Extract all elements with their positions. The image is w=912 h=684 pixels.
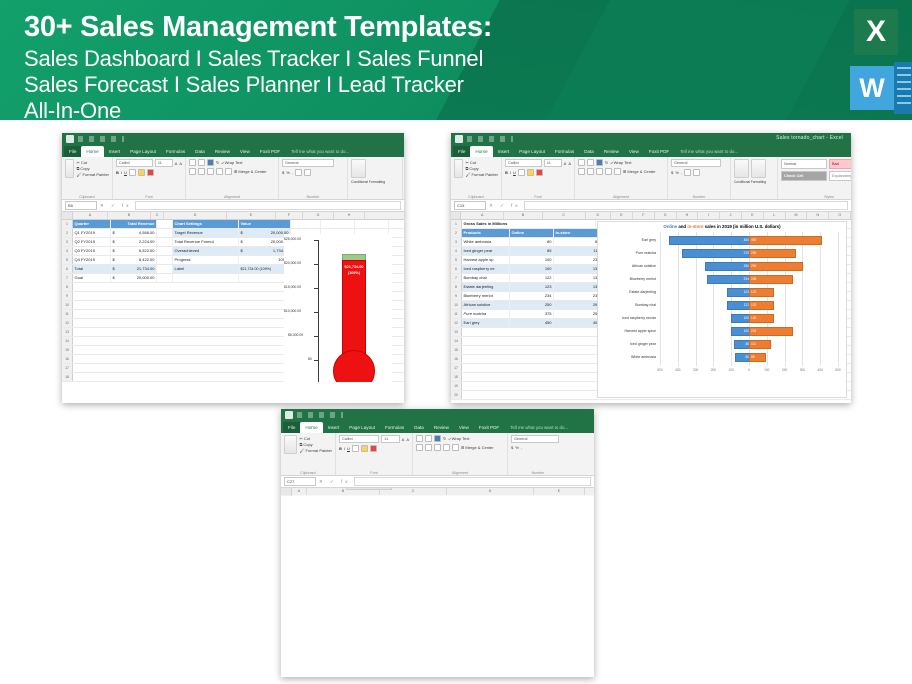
- row-header[interactable]: 6: [62, 265, 73, 273]
- tab-data[interactable]: Data: [579, 146, 599, 157]
- quick-access-toolbar[interactable]: [297, 412, 343, 418]
- col-header-g[interactable]: G: [655, 212, 677, 219]
- row-header[interactable]: 2: [451, 229, 462, 237]
- decrease-font-icon[interactable]: A: [568, 161, 571, 166]
- col-header-d[interactable]: D: [447, 488, 534, 495]
- row-header[interactable]: 19: [451, 382, 462, 390]
- tab-page-layout[interactable]: Page Layout: [125, 146, 161, 157]
- merge-center-button[interactable]: ⊞ Merge & Center: [623, 169, 656, 174]
- bar-instore[interactable]: 290: [749, 262, 803, 271]
- col-header-a[interactable]: A: [73, 212, 108, 219]
- tell-me-box[interactable]: Tell me what you want to do...: [510, 425, 568, 430]
- style-explanatory[interactable]: Explanatory: [829, 171, 851, 181]
- fill-color-icon[interactable]: [138, 169, 145, 176]
- currency-icon[interactable]: $: [282, 170, 284, 175]
- increase-font-icon[interactable]: A: [402, 437, 405, 442]
- formula-bar-row[interactable]: B5 ✕ ✓ fx: [62, 200, 404, 212]
- ribbon-group-number[interactable]: General $% , Number: [508, 433, 568, 475]
- cell-d3[interactable]: Total Revenue Formul: [173, 238, 239, 246]
- cell-b6-total[interactable]: $21,734.00: [111, 265, 157, 273]
- tab-data[interactable]: Data: [190, 146, 210, 157]
- ribbon-group-font[interactable]: Calibri 11 AA B I U Font: [336, 433, 413, 475]
- decrease-decimal-icon[interactable]: [693, 169, 700, 176]
- col-header-h[interactable]: H: [677, 212, 699, 219]
- bold-button[interactable]: B: [339, 446, 342, 451]
- merge-center-button[interactable]: ⊞ Merge & Center: [234, 169, 267, 174]
- bar-online[interactable]: 123: [727, 288, 751, 297]
- bar-instore[interactable]: 234: [749, 327, 793, 336]
- tell-me-box[interactable]: Tell me what you want to do...: [291, 149, 349, 154]
- wrap-text-button[interactable]: ⤶ Wrap Text: [448, 436, 469, 441]
- formula-bar-row[interactable]: C15 ✕ ✓ fx: [451, 200, 851, 212]
- tab-home[interactable]: Home: [81, 146, 103, 157]
- font-color-icon[interactable]: [536, 169, 543, 176]
- number-format-select[interactable]: General: [282, 159, 334, 167]
- product-name[interactable]: White ambrosia: [462, 238, 510, 246]
- style-bad[interactable]: Bad: [829, 159, 851, 169]
- tab-file[interactable]: File: [283, 422, 300, 433]
- cell-e1-value[interactable]: Value: [239, 220, 291, 228]
- tab-formulas[interactable]: Formulas: [550, 146, 579, 157]
- row-header[interactable]: 11: [62, 310, 73, 318]
- increase-indent-icon[interactable]: [614, 168, 621, 175]
- bar-instore[interactable]: 132: [749, 288, 774, 297]
- cell-b5[interactable]: $8,422.00: [111, 256, 157, 264]
- ribbon-tabs[interactable]: File Home Insert Page Layout Formulas Da…: [62, 146, 404, 157]
- font-size-select[interactable]: 11: [155, 159, 173, 167]
- comma-style-icon[interactable]: ,: [292, 170, 293, 175]
- cell-d4[interactable]: Overachieved: [173, 247, 239, 255]
- format-as-table-button[interactable]: [751, 159, 766, 178]
- align-middle-icon[interactable]: [587, 159, 594, 166]
- cell-b1-total-revenue[interactable]: Total Revenue: [111, 220, 157, 228]
- bar-online[interactable]: 375: [682, 249, 751, 258]
- tab-review[interactable]: Review: [210, 146, 235, 157]
- percent-style-button[interactable]: %: [515, 445, 519, 450]
- align-left-icon[interactable]: [578, 168, 585, 175]
- row-header[interactable]: 10: [62, 301, 73, 309]
- cell-a2[interactable]: Q1 FY2019: [73, 229, 111, 237]
- tab-file[interactable]: File: [453, 146, 470, 157]
- align-middle-icon[interactable]: [198, 159, 205, 166]
- bar-instore[interactable]: 85: [749, 353, 766, 362]
- col-header-e[interactable]: E: [534, 488, 585, 495]
- quick-access-toolbar[interactable]: [467, 136, 513, 142]
- number-format-select[interactable]: General: [671, 159, 721, 167]
- style-check-cell[interactable]: Check Cell: [781, 171, 827, 181]
- cell-a6-total[interactable]: Total: [73, 265, 111, 273]
- formula-bar-icons[interactable]: ✕ ✓ fx: [489, 203, 521, 209]
- tab-page-layout[interactable]: Page Layout: [514, 146, 550, 157]
- row-header[interactable]: 3: [62, 238, 73, 246]
- instore-value[interactable]: 235: [554, 292, 602, 300]
- row-headers[interactable]: 12 34 56 78 910 1112 1314 1516 17: [281, 495, 292, 496]
- paste-button[interactable]: [454, 159, 463, 178]
- align-center-icon[interactable]: [587, 168, 594, 175]
- ribbon[interactable]: ✂ Cut ⧉ Copy 🖌 Format Painter Clipboard …: [451, 157, 851, 200]
- name-box[interactable]: C27: [284, 477, 316, 486]
- col-header-o[interactable]: O: [829, 212, 851, 219]
- align-center-icon[interactable]: [425, 444, 432, 451]
- italic-button[interactable]: I: [344, 446, 345, 451]
- tab-foxit-pdf[interactable]: Foxit PDF: [474, 422, 504, 433]
- screenshot-sales-funnel[interactable]: File Home Insert Page Layout Formulas Da…: [281, 409, 594, 677]
- ribbon-tabs[interactable]: File Home Insert Page Layout Formulas Da…: [281, 422, 594, 433]
- borders-icon[interactable]: [352, 445, 359, 452]
- product-name[interactable]: Pure matcha: [462, 310, 510, 318]
- online-value[interactable]: 85: [510, 247, 554, 255]
- cell-products-header[interactable]: Products: [462, 229, 510, 237]
- cell-a5[interactable]: Q4 FY2019: [73, 256, 111, 264]
- bar-online[interactable]: 234: [707, 275, 751, 284]
- ribbon-group-conditional[interactable]: Conditional Formatting: [731, 157, 778, 199]
- instore-value[interactable]: 132: [554, 283, 602, 291]
- ribbon[interactable]: ✂ Cut ⧉ Copy 🖌 Format Painter Clipboard …: [281, 433, 594, 476]
- conditional-formatting-button[interactable]: [351, 159, 366, 178]
- cell-d5[interactable]: Progress: [173, 256, 239, 264]
- increase-font-icon[interactable]: A: [175, 161, 178, 166]
- ribbon-group-alignment[interactable]: ↻ ⤶ Wrap Text ⊞ Merge & Center Alignment: [413, 433, 508, 475]
- tab-data[interactable]: Data: [409, 422, 429, 433]
- worksheet-grid[interactable]: A B C D E 12 34 56 78 910 1112 1314 1516…: [281, 488, 594, 496]
- cell-a7-goal[interactable]: Goal: [73, 274, 111, 282]
- decrease-indent-icon[interactable]: [216, 168, 223, 175]
- row-header[interactable]: 20: [451, 391, 462, 399]
- ribbon-group-font[interactable]: Calibri 11 AA B I U Font: [113, 157, 186, 199]
- cell-c5[interactable]: [157, 256, 173, 264]
- col-header-g[interactable]: G: [303, 212, 334, 219]
- percent-style-button[interactable]: %: [286, 170, 290, 175]
- align-center-icon[interactable]: [198, 168, 205, 175]
- online-value[interactable]: 234: [510, 292, 554, 300]
- col-header-h[interactable]: H: [334, 212, 365, 219]
- screenshot-thermometer-dashboard[interactable]: File Home Insert Page Layout Formulas Da…: [62, 133, 404, 403]
- row-header[interactable]: 1: [62, 220, 73, 228]
- ribbon[interactable]: ✂ Cut ⧉ Copy 🖌 Format Painter Clipboard …: [62, 157, 404, 200]
- cut-button[interactable]: ✂ Cut: [299, 436, 332, 441]
- align-right-icon[interactable]: [207, 168, 214, 175]
- cell-c7[interactable]: [157, 274, 173, 282]
- align-left-icon[interactable]: [189, 168, 196, 175]
- online-value[interactable]: 450: [510, 319, 554, 327]
- ok-button[interactable]: OK: [346, 488, 392, 490]
- col-header-e[interactable]: E: [611, 212, 633, 219]
- tab-formulas[interactable]: Formulas: [161, 146, 190, 157]
- formula-bar-row[interactable]: C27 ✕ ✓ fx: [281, 476, 594, 488]
- corner-select-all[interactable]: [62, 212, 73, 219]
- font-size-select[interactable]: 11: [544, 159, 562, 167]
- tab-page-layout[interactable]: Page Layout: [344, 422, 380, 433]
- online-value[interactable]: 100: [510, 256, 554, 264]
- fill-color-icon[interactable]: [527, 169, 534, 176]
- bar-online[interactable]: 250: [705, 262, 752, 271]
- underline-button[interactable]: U: [124, 170, 127, 175]
- save-icon[interactable]: [455, 135, 463, 143]
- col-header-b[interactable]: B: [504, 212, 543, 219]
- corner-select-all[interactable]: [451, 212, 461, 219]
- decrease-decimal-icon[interactable]: [304, 169, 311, 176]
- cell-g1[interactable]: [321, 220, 355, 228]
- bar-online[interactable]: 100: [731, 327, 751, 336]
- col-header-d[interactable]: D: [164, 212, 227, 219]
- ribbon-group-styles[interactable]: Conditional Formatting: [348, 157, 403, 199]
- orientation-icon[interactable]: ↻: [216, 160, 219, 165]
- instore-value[interactable]: 290: [554, 301, 602, 309]
- formula-input[interactable]: [524, 201, 848, 210]
- tornado-chart[interactable]: Online and in-store sales in 2019 (in mi…: [597, 221, 847, 398]
- row-header[interactable]: 13: [62, 328, 73, 336]
- tab-foxit-pdf[interactable]: Foxit PDF: [644, 146, 674, 157]
- decrease-indent-icon[interactable]: [443, 444, 450, 451]
- name-box[interactable]: C15: [454, 201, 486, 210]
- col-header-b[interactable]: B: [108, 212, 151, 219]
- cell-c3[interactable]: [157, 238, 173, 246]
- row-header[interactable]: 3: [451, 238, 462, 246]
- row-header[interactable]: 16: [451, 355, 462, 363]
- row-header[interactable]: 17: [451, 364, 462, 372]
- wrap-text-button[interactable]: ⤶ Wrap Text: [221, 160, 242, 165]
- tab-view[interactable]: View: [624, 146, 644, 157]
- recreate-charts-bar[interactable]: Click here to recreate the charts OK: [289, 488, 392, 490]
- bar-instore[interactable]: 111: [749, 340, 771, 349]
- row-header[interactable]: 12: [451, 319, 462, 327]
- underline-button[interactable]: U: [513, 170, 516, 175]
- tab-insert[interactable]: Insert: [493, 146, 515, 157]
- instore-value[interactable]: 250: [554, 310, 602, 318]
- product-name[interactable]: Harvest apple sp: [462, 256, 510, 264]
- row-header[interactable]: 15: [451, 346, 462, 354]
- copy-button[interactable]: ⧉ Copy: [299, 442, 332, 447]
- row-header[interactable]: 18: [451, 373, 462, 381]
- comma-style-icon[interactable]: ,: [681, 170, 682, 175]
- font-name-select[interactable]: Calibri: [339, 435, 379, 443]
- fill-color-icon[interactable]: [361, 445, 368, 452]
- cut-button[interactable]: ✂ Cut: [76, 160, 109, 165]
- borders-icon[interactable]: [129, 169, 136, 176]
- ribbon-group-font[interactable]: Calibri 11 AA B I U Font: [502, 157, 575, 199]
- online-value[interactable]: 80: [510, 238, 554, 246]
- col-header-m[interactable]: M: [786, 212, 808, 219]
- col-header-f[interactable]: F: [276, 212, 303, 219]
- row-header[interactable]: 8: [451, 283, 462, 291]
- instore-value[interactable]: 85: [554, 238, 602, 246]
- row-header[interactable]: 5: [62, 256, 73, 264]
- cell-b2[interactable]: $4,566.00: [111, 229, 157, 237]
- col-header-c[interactable]: C: [151, 212, 164, 219]
- worksheet-grid[interactable]: A B C D E F G H I J K L M N O 1 Gross Sa…: [451, 212, 851, 400]
- decrease-indent-icon[interactable]: [605, 168, 612, 175]
- merge-center-button[interactable]: ⊞ Merge & Center: [461, 445, 494, 450]
- row-header[interactable]: 7: [451, 274, 462, 282]
- row-header[interactable]: 6: [451, 265, 462, 273]
- bar-instore[interactable]: 235: [749, 275, 793, 284]
- align-right-icon[interactable]: [434, 444, 441, 451]
- style-normal[interactable]: Normal: [781, 159, 827, 169]
- cell-c1[interactable]: [157, 220, 173, 228]
- paste-button[interactable]: [65, 159, 74, 178]
- product-name[interactable]: Bombay chai: [462, 274, 510, 282]
- ribbon-group-clipboard[interactable]: ✂ Cut ⧉ Copy 🖌 Format Painter Clipboard: [62, 157, 113, 199]
- font-color-icon[interactable]: [370, 445, 377, 452]
- row-header[interactable]: 4: [62, 247, 73, 255]
- row-header[interactable]: 1: [451, 220, 462, 228]
- instore-value[interactable]: 132: [554, 274, 602, 282]
- row-header[interactable]: 8: [62, 283, 73, 291]
- bar-online[interactable]: 100: [731, 314, 751, 323]
- product-name[interactable]: Iced ginger pear: [462, 247, 510, 255]
- col-header-j[interactable]: J: [720, 212, 742, 219]
- row-header[interactable]: 16: [62, 355, 73, 363]
- bar-instore[interactable]: 250: [749, 249, 796, 258]
- increase-decimal-icon[interactable]: [295, 169, 302, 176]
- tab-home[interactable]: Home: [470, 146, 492, 157]
- col-header-k[interactable]: K: [742, 212, 764, 219]
- cell-c4[interactable]: [157, 247, 173, 255]
- col-header-i[interactable]: I: [698, 212, 720, 219]
- align-bottom-icon[interactable]: [596, 159, 603, 166]
- cell-d6-label[interactable]: Label: [173, 265, 239, 273]
- formula-input[interactable]: [354, 477, 591, 486]
- tab-review[interactable]: Review: [599, 146, 624, 157]
- underline-button[interactable]: U: [347, 446, 350, 451]
- ribbon-group-clipboard[interactable]: ✂ Cut ⧉ Copy 🖌 Format Painter Clipboard: [281, 433, 336, 475]
- bold-button[interactable]: B: [116, 170, 119, 175]
- align-left-icon[interactable]: [416, 444, 423, 451]
- name-box[interactable]: B5: [65, 201, 97, 210]
- ribbon-group-styles[interactable]: Normal Bad Check Cell Explanatory Styles: [778, 157, 851, 199]
- align-top-icon[interactable]: [416, 435, 423, 442]
- ribbon-group-number[interactable]: General $% , Number: [668, 157, 731, 199]
- formula-input[interactable]: [135, 201, 401, 210]
- row-header[interactable]: 5: [451, 256, 462, 264]
- align-middle-icon[interactable]: [425, 435, 432, 442]
- worksheet-grid[interactable]: A B C D E F G H 1 Quarter Total Revenue …: [62, 212, 404, 382]
- cut-button[interactable]: ✂ Cut: [465, 160, 498, 165]
- percent-style-button[interactable]: %: [675, 170, 679, 175]
- ribbon-group-clipboard[interactable]: ✂ Cut ⧉ Copy 🖌 Format Painter Clipboard: [451, 157, 502, 199]
- bar-instore[interactable]: 132: [749, 301, 774, 310]
- product-name[interactable]: Iced raspberry ne: [462, 265, 510, 273]
- tab-review[interactable]: Review: [429, 422, 454, 433]
- align-bottom-icon[interactable]: [434, 435, 441, 442]
- format-painter-button[interactable]: 🖌 Format Painter: [299, 448, 332, 453]
- instore-value[interactable]: 234: [554, 256, 602, 264]
- cell-b4[interactable]: $6,522.00: [111, 247, 157, 255]
- increase-indent-icon[interactable]: [225, 168, 232, 175]
- cell-b7-goal[interactable]: $20,000.00: [111, 274, 157, 282]
- col-header-n[interactable]: N: [807, 212, 829, 219]
- bold-button[interactable]: B: [505, 170, 508, 175]
- tell-me-box[interactable]: Tell me what you want to do...: [680, 149, 738, 154]
- currency-icon[interactable]: $: [511, 445, 513, 450]
- ribbon-group-number[interactable]: General $% , Number: [279, 157, 348, 199]
- online-value[interactable]: 122: [510, 274, 554, 282]
- currency-icon[interactable]: $: [671, 170, 673, 175]
- increase-font-icon[interactable]: A: [564, 161, 567, 166]
- col-header-c[interactable]: C: [543, 212, 586, 219]
- online-value[interactable]: 123: [510, 283, 554, 291]
- col-header-f[interactable]: F: [633, 212, 655, 219]
- ribbon-group-alignment[interactable]: ↻ ⤶ Wrap Text ⊞ Merge & Center Alignment: [186, 157, 279, 199]
- tab-foxit-pdf[interactable]: Foxit PDF: [255, 146, 285, 157]
- cell-a3[interactable]: Q2 FY2019: [73, 238, 111, 246]
- cell-h1[interactable]: [355, 220, 389, 228]
- font-name-select[interactable]: Calibri: [116, 159, 153, 167]
- col-header-l[interactable]: L: [764, 212, 786, 219]
- bar-online[interactable]: 450: [669, 236, 751, 245]
- ribbon-tabs[interactable]: File Home Insert Page Layout Formulas Da…: [451, 146, 851, 157]
- ribbon-group-alignment[interactable]: ↻ ⤶ Wrap Text ⊞ Merge & Center Alignment: [575, 157, 668, 199]
- row-header[interactable]: 12: [62, 319, 73, 327]
- sheet-title[interactable]: Gross Sales in Millions: [462, 220, 596, 228]
- cell-f1[interactable]: [291, 220, 321, 228]
- bar-instore[interactable]: 130: [749, 314, 774, 323]
- row-header[interactable]: 2: [62, 229, 73, 237]
- tab-formulas[interactable]: Formulas: [380, 422, 409, 433]
- row-header[interactable]: 10: [451, 301, 462, 309]
- wrap-text-button[interactable]: ⤶ Wrap Text: [610, 160, 631, 165]
- instore-value[interactable]: 111: [554, 247, 602, 255]
- row-header[interactable]: 9: [62, 292, 73, 300]
- online-value[interactable]: 100: [510, 265, 554, 273]
- bar-instore[interactable]: 400: [749, 236, 822, 245]
- number-format-select[interactable]: General: [511, 435, 559, 443]
- online-value[interactable]: 375: [510, 310, 554, 318]
- italic-button[interactable]: I: [121, 170, 122, 175]
- formula-bar-icons[interactable]: ✕ ✓ fx: [100, 203, 132, 209]
- increase-decimal-icon[interactable]: [684, 169, 691, 176]
- product-name[interactable]: African solstice: [462, 301, 510, 309]
- row-header[interactable]: 7: [62, 274, 73, 282]
- bar-online[interactable]: 122: [727, 301, 751, 310]
- tab-insert[interactable]: Insert: [104, 146, 126, 157]
- copy-button[interactable]: ⧉ Copy: [76, 166, 109, 171]
- orientation-icon[interactable]: ↻: [443, 436, 446, 441]
- save-icon[interactable]: [66, 135, 74, 143]
- conditional-formatting-button[interactable]: [734, 159, 749, 178]
- cell-instore-header[interactable]: In-store: [554, 229, 602, 237]
- tab-insert[interactable]: Insert: [323, 422, 345, 433]
- cell-online-header[interactable]: Online: [510, 229, 554, 237]
- col-header-e[interactable]: E: [227, 212, 276, 219]
- cell-b3[interactable]: $2,224.00: [111, 238, 157, 246]
- row-header[interactable]: 13: [451, 328, 462, 336]
- font-size-select[interactable]: 11: [381, 435, 399, 443]
- tab-view[interactable]: View: [235, 146, 255, 157]
- align-right-icon[interactable]: [596, 168, 603, 175]
- row-header[interactable]: 4: [451, 247, 462, 255]
- thermometer-chart[interactable]: $25,000.00 $20,000.00 $15,000.00 $10,000…: [284, 234, 392, 382]
- italic-button[interactable]: I: [510, 170, 511, 175]
- decrease-font-icon[interactable]: A: [406, 437, 409, 442]
- col-header-a[interactable]: A: [461, 212, 504, 219]
- borders-icon[interactable]: [518, 169, 525, 176]
- instore-value[interactable]: 400: [554, 319, 602, 327]
- cell-a1-quarter[interactable]: Quarter: [73, 220, 111, 228]
- increase-indent-icon[interactable]: [452, 444, 459, 451]
- align-top-icon[interactable]: [189, 159, 196, 166]
- align-bottom-icon[interactable]: [207, 159, 214, 166]
- product-name[interactable]: Estate darjeeling: [462, 283, 510, 291]
- product-name[interactable]: Earl grey: [462, 319, 510, 327]
- row-header[interactable]: 1: [281, 495, 291, 496]
- row-header[interactable]: 9: [451, 292, 462, 300]
- row-header[interactable]: 11: [451, 310, 462, 318]
- comma-style-icon[interactable]: ,: [521, 445, 522, 450]
- cell-c2[interactable]: [157, 229, 173, 237]
- table-row[interactable]: 1 Quarter Total Revenue Chart Settings V…: [62, 220, 404, 229]
- format-painter-button[interactable]: 🖌 Format Painter: [465, 172, 498, 177]
